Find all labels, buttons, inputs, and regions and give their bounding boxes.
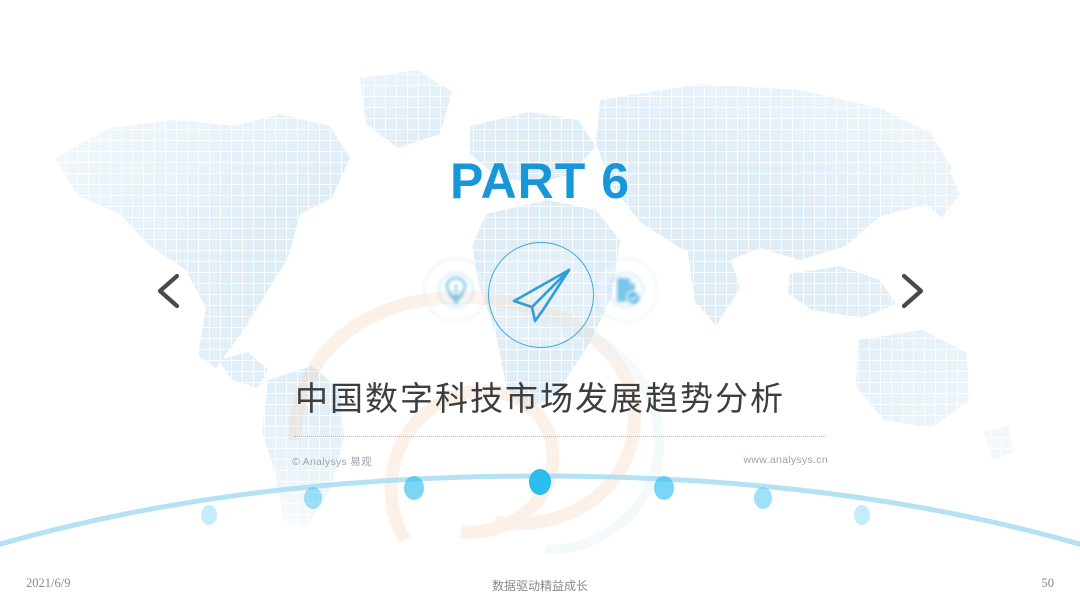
lightbulb-glyph	[436, 270, 476, 310]
pager-dot[interactable]	[854, 505, 870, 525]
pager-dot[interactable]	[754, 487, 772, 509]
document-check-icon	[594, 258, 658, 322]
lightbulb-icon	[424, 258, 488, 322]
paper-plane-glyph	[508, 265, 574, 325]
icon-cluster	[0, 242, 1080, 342]
pager-dot[interactable]	[304, 487, 322, 509]
page-number: 50	[1042, 576, 1055, 591]
pager-dot[interactable]	[201, 505, 217, 525]
slide-footer: 2021/6/9 数据驱动精益成长 50	[0, 564, 1080, 608]
pager-dot-active[interactable]	[529, 469, 551, 495]
title-divider	[294, 436, 826, 438]
footer-tagline: 数据驱动精益成长	[0, 577, 1080, 594]
copyright-credit: © Analysys 易观	[292, 454, 372, 469]
part-label: PART 6	[0, 152, 1080, 210]
website-url: www.analysys.cn	[716, 454, 828, 466]
paper-plane-icon	[488, 242, 594, 348]
pager-dot[interactable]	[654, 476, 674, 500]
document-check-glyph	[606, 270, 646, 310]
page-title: 中国数字科技市场发展趋势分析	[0, 372, 1080, 420]
pager-dot[interactable]	[404, 476, 424, 500]
slide-canvas: PART 6	[0, 0, 1080, 608]
